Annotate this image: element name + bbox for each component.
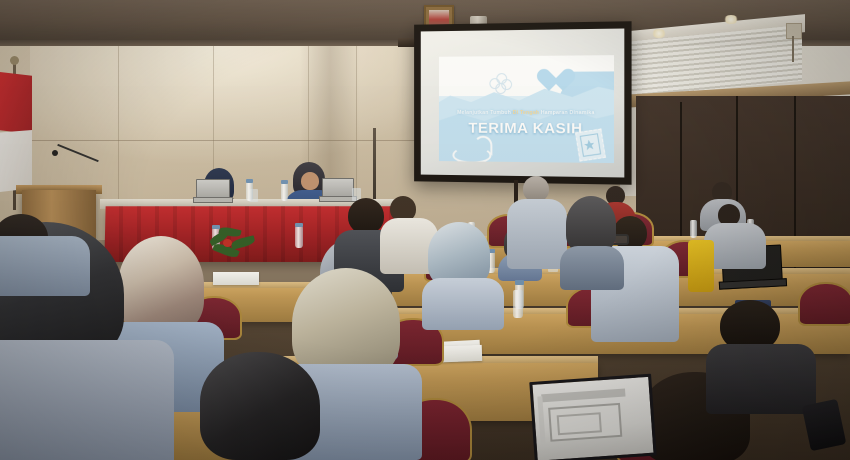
laptop-screen [196, 179, 230, 199]
torso [706, 344, 816, 414]
screen-dialog [557, 412, 602, 435]
hijab [118, 236, 204, 334]
foreground-laptop [523, 374, 656, 460]
slide-subtitle: Melanjutkan Tumbuh Di Tengah Hamparan Di… [447, 110, 606, 116]
laptop-screen [322, 178, 354, 198]
water-bottle [281, 183, 288, 201]
projection-screen: Melanjutkan Tumbuh Di Tengah Hamparan Di… [414, 21, 631, 185]
swan-neck [474, 136, 493, 156]
torso [560, 246, 624, 290]
flower-icon [489, 73, 511, 93]
subtitle-highlight: Di Tengah [513, 110, 539, 116]
torso [507, 199, 567, 269]
water-bottle [690, 220, 697, 238]
bottle-cap [295, 223, 303, 227]
subtitle-tail: Hamparan Dinamika [541, 110, 595, 116]
decorative-plant [205, 224, 265, 268]
leaf [230, 235, 255, 250]
heart-icon [535, 70, 563, 95]
face [301, 172, 319, 190]
hijab [200, 352, 320, 460]
wall-socket [786, 23, 802, 39]
torso [0, 236, 90, 296]
torso [422, 278, 504, 330]
bottle-cap [281, 180, 288, 184]
microphone-head [52, 150, 58, 156]
water-bottle [246, 182, 253, 201]
laptop-screen [529, 374, 656, 460]
chair [798, 282, 850, 326]
screen-surface: Melanjutkan Tumbuh Di Tengah Hamparan Di… [421, 28, 625, 177]
torso [0, 340, 174, 460]
flag-red-band [0, 72, 32, 134]
bottle-cap [246, 179, 253, 183]
presenter-laptop-left [193, 179, 231, 201]
socket-cord [792, 36, 794, 62]
indonesian-flag [0, 72, 32, 192]
water-bottle [513, 290, 523, 318]
screen-sidebar [537, 396, 545, 444]
hijab [428, 222, 490, 286]
presentation-slide: Melanjutkan Tumbuh Di Tengah Hamparan Di… [439, 55, 614, 163]
yellow-bag [688, 240, 714, 292]
screen-line [541, 388, 625, 402]
presenter-laptop-right [319, 178, 355, 200]
hijab [566, 196, 616, 252]
conference-room-photo: Melanjutkan Tumbuh Di Tengah Hamparan Di… [0, 0, 850, 460]
water-bottle [295, 226, 303, 248]
laptop-base [193, 197, 233, 203]
swan-icon [451, 136, 492, 160]
head [348, 198, 384, 234]
recessed-light [651, 29, 667, 38]
bottle-cap [515, 280, 524, 285]
flag-white-band [0, 130, 32, 192]
flower [223, 239, 232, 247]
paper-sheet [213, 272, 259, 285]
recessed-light [723, 15, 739, 24]
postage-stamp-icon [575, 129, 606, 162]
flag-finial [10, 56, 19, 65]
subtitle-lead: Melanjutkan Tumbuh [457, 110, 511, 116]
